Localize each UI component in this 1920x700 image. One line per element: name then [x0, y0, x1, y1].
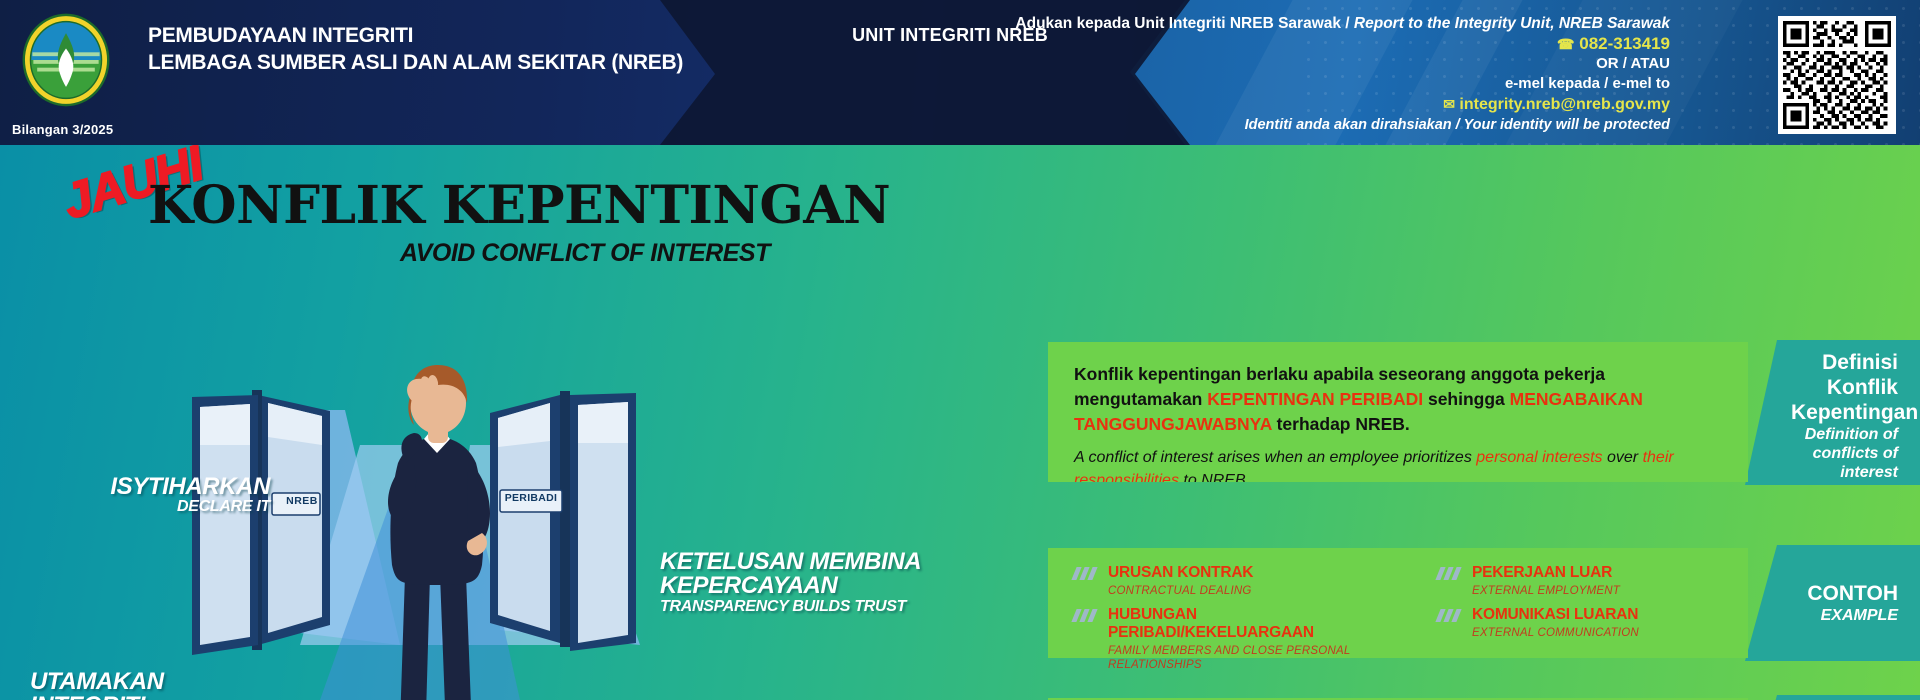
label-declare: ISYTIHARKAN DECLARE IT: [110, 475, 270, 516]
definition-text-en: A conflict of interest arises when an em…: [1074, 446, 1722, 492]
org-title-line1: PEMBUDAYAAN INTEGRITI: [148, 22, 683, 49]
example-en: EXTERNAL EMPLOYMENT: [1472, 584, 1728, 598]
definition-en-p2: over: [1603, 449, 1643, 466]
examples-column-left: URUSAN KONTRAK CONTRACTUAL DEALING HUBUN…: [1074, 564, 1404, 680]
contact-protected-note: Identiti anda akan dirahsiakan / Your id…: [930, 115, 1670, 135]
contact-phone: 082-313419: [1579, 34, 1670, 53]
poster-subtitle: AVOID CONFLICT OF INTEREST: [400, 239, 770, 268]
tab-example-en: EXAMPLE: [1791, 606, 1898, 625]
card-definition: Konflik kepentingan berlaku apabila sese…: [1048, 342, 1748, 482]
illustration-area: ? ? ?: [0, 145, 1020, 700]
quill-marks-icon: [1074, 567, 1100, 580]
example-en: EXTERNAL COMMUNICATION: [1472, 626, 1728, 640]
examples-column-right: PEKERJAAN LUAR EXTERNAL EMPLOYMENT KOMUN…: [1438, 564, 1728, 648]
qr-code[interactable]: [1778, 16, 1896, 134]
qr-code-graphic: [1783, 21, 1891, 129]
example-ms: HUBUNGAN PERIBADI/KEKELUARGAAN: [1108, 606, 1404, 642]
label-transparency: KETELUSAN MEMBINA KEPERCAYAAN TRANSPAREN…: [660, 550, 930, 615]
contact-email-row[interactable]: ✉ integrity.nreb@nreb.gov.my: [930, 94, 1670, 115]
example-item: HUBUNGAN PERIBADI/KEKELUARGAAN FAMILY ME…: [1074, 606, 1404, 672]
contact-report-ms: Adukan kepada Unit Integriti NREB Sarawa…: [1015, 15, 1341, 32]
card-examples: URUSAN KONTRAK CONTRACTUAL DEALING HUBUN…: [1048, 548, 1748, 658]
contact-or: OR / ATAU: [930, 54, 1670, 74]
door-label-peribadi: PERIBADI: [502, 492, 560, 504]
label-transparency-en: TRANSPARENCY BUILDS TRUST: [660, 599, 930, 615]
label-integrity-first: UTAMAKAN INTEGRITI INTEGRITY FIRST: [30, 670, 245, 700]
organization-title: PEMBUDAYAAN INTEGRITI LEMBAGA SUMBER ASL…: [148, 22, 683, 76]
tab-action: Tindakan Action step: [1745, 695, 1920, 700]
contact-email-label: e-mel kepada / e-mel to: [930, 74, 1670, 94]
example-ms: URUSAN KONTRAK: [1108, 564, 1404, 582]
tab-definition: Definisi Konflik Kepentingan Definition …: [1745, 340, 1920, 485]
envelope-icon: ✉: [1443, 96, 1455, 112]
example-ms: PEKERJAAN LUAR: [1472, 564, 1728, 582]
org-title-line2: LEMBAGA SUMBER ASLI DAN ALAM SEKITAR (NR…: [148, 49, 683, 76]
tab-example-ms: CONTOH: [1791, 581, 1898, 606]
label-integrity-ms: UTAMAKAN INTEGRITI: [30, 670, 245, 700]
example-item: PEKERJAAN LUAR EXTERNAL EMPLOYMENT: [1438, 564, 1728, 598]
label-declare-ms: ISYTIHARKAN: [110, 475, 270, 499]
example-en: FAMILY MEMBERS AND CLOSE PERSONAL RELATI…: [1108, 644, 1404, 672]
label-transparency-ms-2: KEPERCAYAAN: [660, 574, 930, 598]
nreb-logo: [18, 12, 114, 108]
quill-marks-icon: [1438, 567, 1464, 580]
definition-ms-red1: KEPENTINGAN PERIBADI: [1207, 389, 1423, 409]
contact-email: integrity.nreb@nreb.gov.my: [1459, 96, 1670, 113]
quill-marks-icon: [1074, 609, 1100, 622]
example-item: URUSAN KONTRAK CONTRACTUAL DEALING: [1074, 564, 1404, 598]
contact-report-line: Adukan kepada Unit Integriti NREB Sarawa…: [930, 14, 1670, 34]
phone-icon: ☎: [1557, 36, 1574, 52]
definition-en-p1: A conflict of interest arises when an em…: [1074, 449, 1476, 466]
example-item: KOMUNIKASI LUARAN EXTERNAL COMMUNICATION: [1438, 606, 1728, 640]
definition-en-red1: personal interests: [1476, 449, 1602, 466]
issue-number: Bilangan 3/2025: [12, 122, 113, 137]
example-en: CONTRACTUAL DEALING: [1108, 584, 1404, 598]
quill-marks-icon: [1438, 609, 1464, 622]
definition-text-ms: Konflik kepentingan berlaku apabila sese…: [1074, 362, 1722, 437]
contact-block: Adukan kepada Unit Integriti NREB Sarawa…: [930, 14, 1670, 135]
example-ms: KOMUNIKASI LUARAN: [1472, 606, 1728, 624]
tab-definition-en: Definition of conflicts of interest: [1791, 425, 1898, 482]
page-header: PEMBUDAYAAN INTEGRITI LEMBAGA SUMBER ASL…: [0, 0, 1920, 145]
door-label-nreb: NREB: [280, 495, 324, 507]
poster-body: ? ? ?: [0, 145, 1920, 700]
contact-phone-row[interactable]: ☎ 082-313419: [930, 34, 1670, 54]
definition-ms-p3: terhadap NREB.: [1272, 414, 1410, 434]
tab-example: CONTOH EXAMPLE: [1745, 545, 1920, 661]
contact-separator: /: [1341, 15, 1354, 32]
definition-en-p3: to NREB.: [1179, 472, 1250, 489]
poster-title: KONFLIK KEPENTINGAN: [148, 175, 890, 236]
contact-report-en: Report to the Integrity Unit, NREB Saraw…: [1354, 15, 1670, 32]
tab-definition-ms: Definisi Konflik Kepentingan: [1791, 350, 1898, 425]
definition-ms-p2: sehingga: [1423, 389, 1510, 409]
label-transparency-ms-1: KETELUSAN MEMBINA: [660, 550, 930, 574]
label-declare-en: DECLARE IT: [110, 499, 270, 515]
